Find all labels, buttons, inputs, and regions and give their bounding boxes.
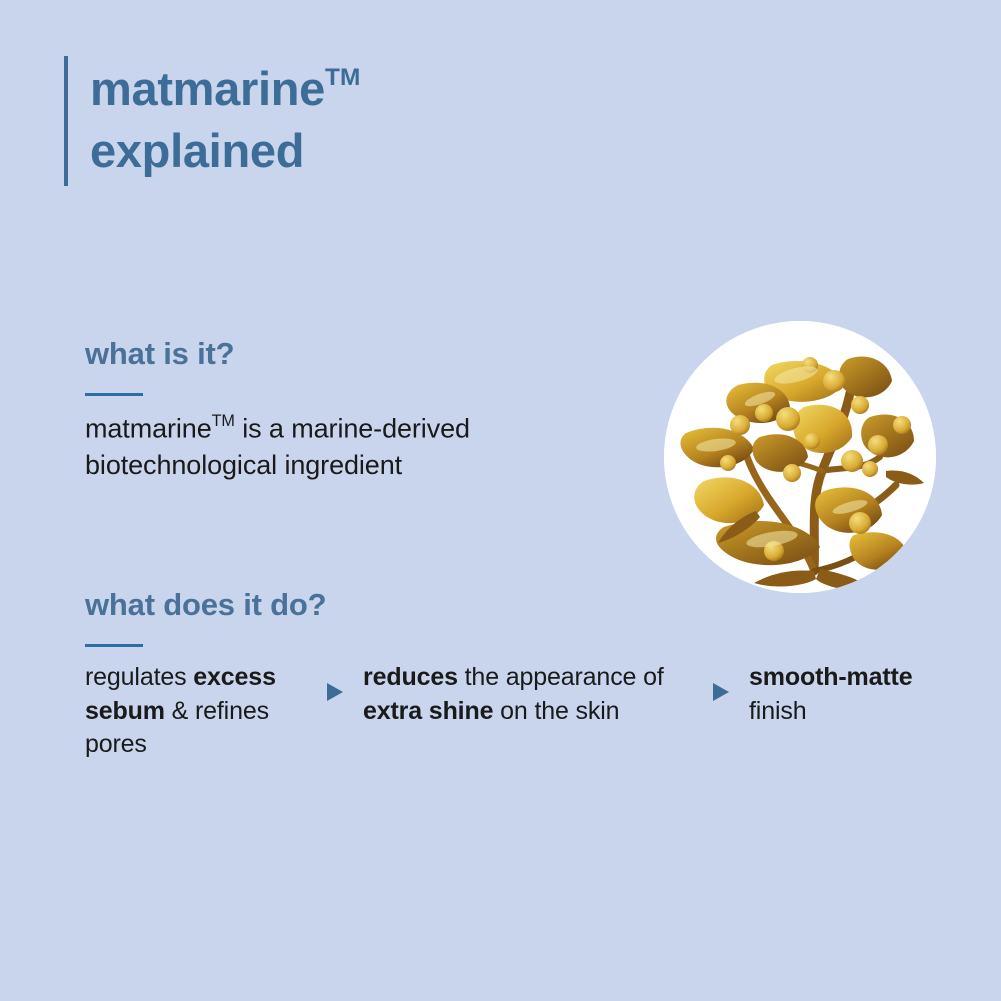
benefit-2-text-part2: on the skin (493, 697, 619, 725)
benefit-2-bold-1: reduces (363, 663, 458, 691)
title-accent-bar (64, 56, 68, 186)
page-title: matmarineTM explained (90, 56, 360, 186)
section-what-is-it: what is it? matmarineTM is a marine-deri… (85, 337, 625, 484)
benefit-2-bold-2: extra shine (363, 697, 493, 725)
benefits-row: regulates excess sebum & refines pores r… (85, 661, 964, 762)
trademark-symbol: TM (325, 64, 360, 91)
section-divider (85, 644, 143, 647)
benefit-3-bold-1: smooth-matte (749, 663, 912, 691)
benefit-3-text-part1: finish (749, 697, 806, 725)
page-title-line2: explained (90, 120, 360, 182)
seaweed-photo (664, 321, 936, 593)
benefit-item-3: smooth-matte finish (749, 661, 964, 728)
benefit-separator-arrow-1 (307, 661, 363, 702)
triangle-right-icon (712, 682, 730, 702)
section-heading-what-is-it: what is it? (85, 337, 625, 371)
page-title-line1: matmarine (90, 62, 325, 115)
section-body-what-is-it: matmarineTM is a marine-derived biotechn… (85, 410, 625, 484)
ingredient-image-clip (664, 321, 936, 593)
section-divider (85, 393, 143, 396)
benefit-separator-arrow-2 (693, 661, 749, 702)
page-title-block: matmarineTM explained (64, 56, 360, 186)
ingredient-image-circle (664, 321, 936, 593)
benefit-item-2: reduces the appearance of extra shine on… (363, 661, 693, 728)
section-what-does-it-do: what does it do? regulates excess sebum … (85, 588, 964, 762)
benefit-item-1: regulates excess sebum & refines pores (85, 661, 307, 762)
section-heading-what-does-it-do: what does it do? (85, 588, 964, 622)
benefit-1-text-part1: regulates (85, 663, 193, 691)
body-text-matmarine: matmarine (85, 414, 212, 444)
triangle-right-icon (326, 682, 344, 702)
trademark-symbol: TM (212, 412, 235, 430)
benefit-2-text-part1: the appearance of (458, 663, 664, 691)
